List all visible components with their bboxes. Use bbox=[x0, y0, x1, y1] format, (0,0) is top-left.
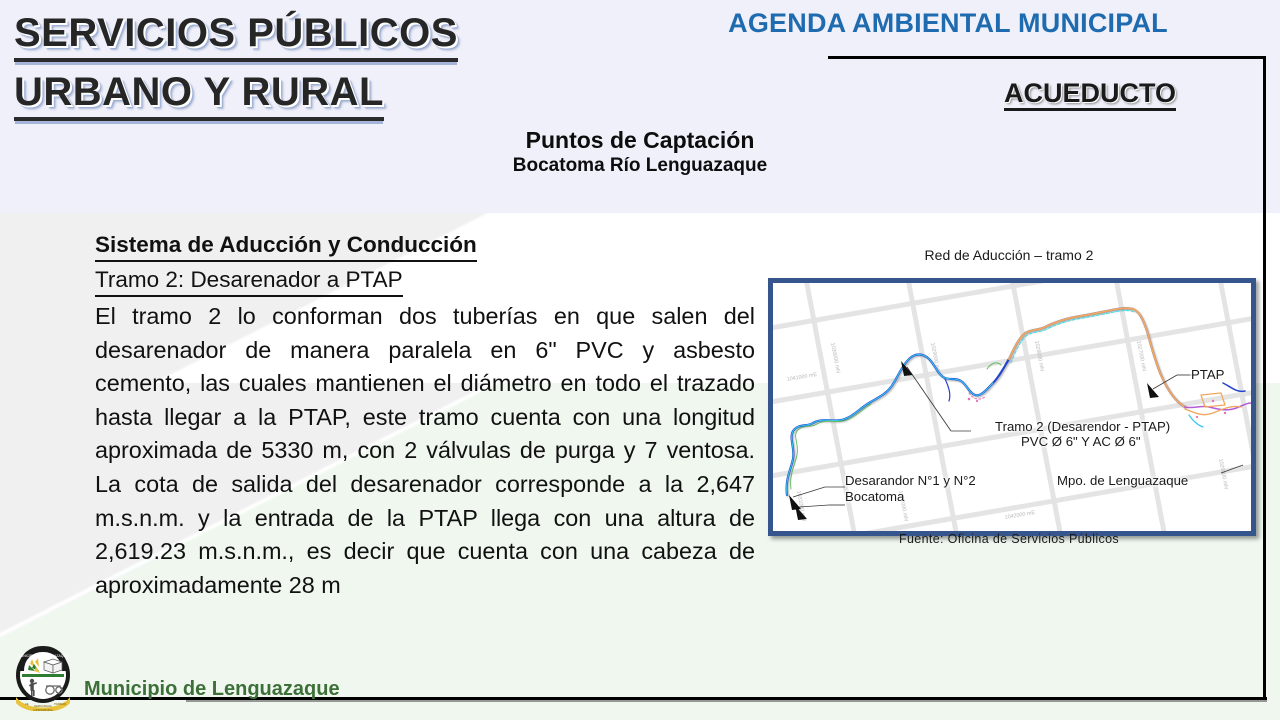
body-subheading: Tramo 2: Desarenador a PTAP bbox=[95, 265, 403, 297]
section-title-text: ACUEDUCTO bbox=[1004, 78, 1176, 111]
body-subheading-wrap: Tramo 2: Desarenador a PTAP bbox=[95, 263, 755, 298]
page-title-line-2: URBANO Y RURAL bbox=[14, 69, 384, 121]
slide-subtitle-line-2: Bocatoma Río Lenguazaque bbox=[400, 154, 880, 178]
slide-subtitle: Puntos de Captación Bocatoma Río Lenguaz… bbox=[400, 126, 880, 178]
agenda-title: AGENDA AMBIENTAL MUNICIPAL bbox=[630, 8, 1266, 39]
svg-text:FE: FE bbox=[25, 702, 29, 706]
map-callout-tramo2-line2: PVC Ø 6" Y AC Ø 6" bbox=[995, 434, 1141, 449]
slide-subtitle-line-1: Puntos de Captación bbox=[400, 126, 880, 154]
map-callout-desarenador: Desarandor N°1 y N°2 bbox=[845, 473, 976, 488]
figure-map: Red de Aducción – tramo 2 bbox=[766, 246, 1252, 554]
map-callout-tramo2-line1: Tramo 2 (Desarendor - PTAP) bbox=[995, 419, 1170, 434]
svg-text:TRABAJO: TRABAJO bbox=[54, 702, 66, 706]
footer-divider-rule-secondary bbox=[186, 700, 1267, 702]
section-title: ACUEDUCTO bbox=[930, 78, 1250, 109]
svg-text:MUNICIPIO DE LENGUAZAQUE: MUNICIPIO DE LENGUAZAQUE bbox=[18, 654, 69, 658]
map-callout-bocatoma: Bocatoma bbox=[845, 489, 904, 504]
coat-of-arms-svg: MUNICIPIO DE LENGUAZAQUE bbox=[12, 645, 74, 711]
figure-title: Red de Aducción – tramo 2 bbox=[766, 246, 1252, 270]
body-paragraph: El tramo 2 lo conforman dos tuberías en … bbox=[95, 300, 755, 602]
map-callout-tramo2: Tramo 2 (Desarendor - PTAP) PVC Ø 6" Y A… bbox=[995, 419, 1170, 449]
page-title-line-1: SERVICIOS PÚBLICOS bbox=[14, 10, 458, 62]
figure-source: Fuente: Oficina de Servicios Públicos bbox=[766, 532, 1252, 546]
coat-of-arms-icon: MUNICIPIO DE LENGUAZAQUE bbox=[12, 645, 74, 711]
figure-frame: 1041000 mE 1042000 mE 1030000 mN 1029000… bbox=[768, 278, 1256, 536]
slide-canvas: SERVICIOS PÚBLICOS URBANO Y RURAL AGENDA… bbox=[0, 0, 1280, 720]
map-callout-municipio: Mpo. de Lenguazaque bbox=[1057, 473, 1188, 488]
map-callout-ptap: PTAP bbox=[1191, 367, 1224, 382]
header-divider-rule bbox=[828, 56, 1266, 59]
right-border-rule bbox=[1263, 56, 1266, 700]
footer-municipality-label: Municipio de Lenguazaque bbox=[84, 678, 340, 701]
body-heading-wrap: Sistema de Aducción y Conducción bbox=[95, 228, 755, 263]
svg-text:CUNDINAMARCA: CUNDINAMARCA bbox=[33, 709, 53, 711]
body-heading: Sistema de Aducción y Conducción bbox=[95, 230, 477, 262]
body-text-column: Sistema de Aducción y Conducción Tramo 2… bbox=[95, 228, 755, 602]
page-title: SERVICIOS PÚBLICOS URBANO Y RURAL bbox=[14, 10, 534, 128]
svg-text:DEMOCRACIA: DEMOCRACIA bbox=[34, 704, 52, 708]
